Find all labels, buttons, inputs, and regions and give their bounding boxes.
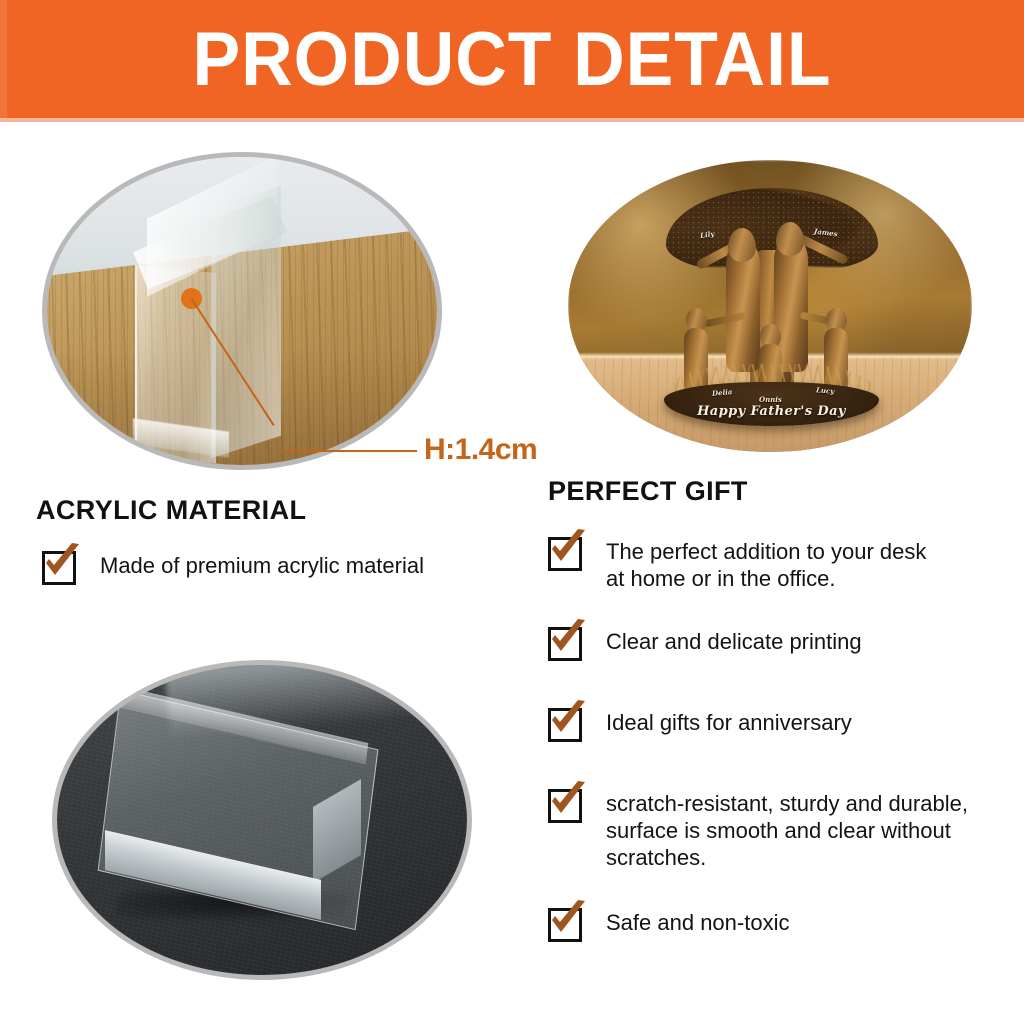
feature-text: Safe and non-toxic xyxy=(606,902,789,936)
sculpture-group: Lily James Delia Onnis Lucy Happy Father… xyxy=(664,188,879,420)
checkmark-icon xyxy=(546,779,590,823)
section-heading-acrylic-material: ACRYLIC MATERIAL xyxy=(36,494,306,526)
feature-text: Ideal gifts for anniversary xyxy=(606,702,852,736)
sculpture-name-tag-base-right: Lucy xyxy=(816,385,835,396)
checkmark-icon xyxy=(546,527,590,571)
feature-item: Ideal gifts for anniversary xyxy=(548,702,1000,742)
adult-figure-left-head xyxy=(728,228,756,262)
feature-item: The perfect addition to your desk at hom… xyxy=(548,531,1000,592)
feature-item: Made of premium acrylic material xyxy=(42,545,512,585)
feature-text: scratch-resistant, sturdy and durable, s… xyxy=(606,783,968,871)
height-measurement-label: H:1.4cm xyxy=(424,432,537,468)
checkmark-icon xyxy=(40,541,84,585)
section-heading-perfect-gift: PERFECT GIFT xyxy=(548,475,748,507)
callout-leader-line-horizontal xyxy=(281,450,417,452)
checkmark-icon xyxy=(546,698,590,742)
checkbox-checked xyxy=(548,783,588,823)
adult-figure-right-head xyxy=(776,222,804,256)
feature-item: Clear and delicate printing xyxy=(548,621,1000,661)
checkbox-checked xyxy=(548,531,588,571)
banner-underline xyxy=(0,118,1024,122)
checkbox-checked xyxy=(548,702,588,742)
checkbox-checked xyxy=(548,621,588,661)
sculpture-greeting-text: Happy Father's Day xyxy=(664,404,879,419)
checkmark-icon xyxy=(546,617,590,661)
page-header-banner: PRODUCT DETAIL xyxy=(0,0,1024,120)
feature-text: Clear and delicate printing xyxy=(606,621,862,655)
feature-item: Safe and non-toxic xyxy=(548,902,1000,942)
checkbox-checked xyxy=(548,902,588,942)
banner-left-edge-highlight xyxy=(0,0,7,120)
checkbox-checked xyxy=(42,545,82,585)
checkmark-icon xyxy=(546,898,590,942)
photo-family-tree-sculpture: Lily James Delia Onnis Lucy Happy Father… xyxy=(568,160,972,452)
feature-text: The perfect addition to your desk at hom… xyxy=(606,531,926,592)
sculpture-name-tag-base-left: Delia xyxy=(712,387,733,398)
sculpture-name-tag-base-center: Onnis xyxy=(759,395,782,404)
photo-acrylic-block xyxy=(52,660,472,980)
photo-acrylic-edge xyxy=(42,152,442,470)
feature-text: Made of premium acrylic material xyxy=(100,545,424,579)
feature-item: scratch-resistant, sturdy and durable, s… xyxy=(548,783,1000,871)
page-title: PRODUCT DETAIL xyxy=(31,14,994,106)
